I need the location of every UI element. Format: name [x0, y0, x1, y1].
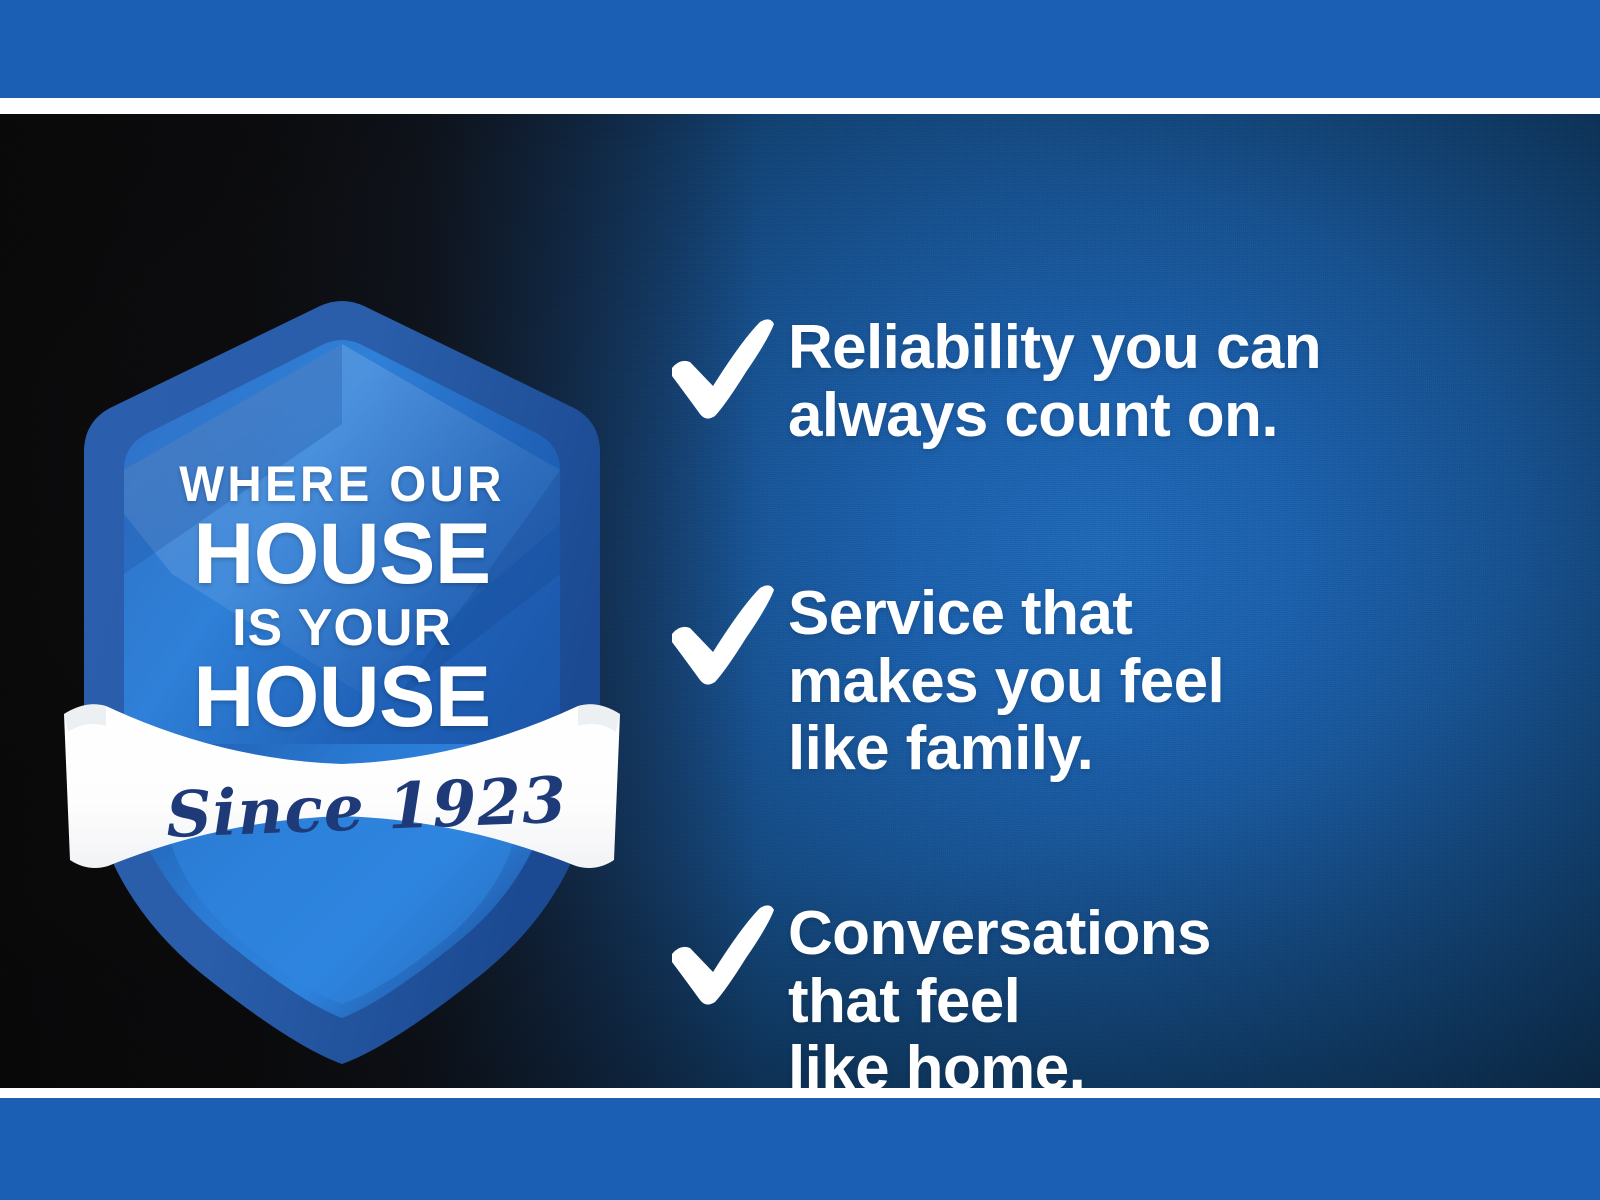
benefit-text-3: Conversations that feel like home. [788, 896, 1211, 1088]
ribbon-banner [62, 274, 622, 1064]
benefit-text-2: Service that makes you feel like family. [788, 576, 1224, 783]
benefit-item-3: Conversations that feel like home. [660, 896, 1211, 1088]
bottom-brand-band [0, 1098, 1600, 1200]
checkmark-icon [660, 896, 788, 1008]
shield-badge: WHERE OUR HOUSE IS YOUR HOUSE Since 1923 [62, 274, 622, 1064]
ribbon-text: Since 1923 [165, 764, 528, 852]
promo-graphic: WHERE OUR HOUSE IS YOUR HOUSE Since 1923 [0, 0, 1600, 1200]
benefit-text-1: Reliability you can always count on. [788, 310, 1321, 449]
benefit-item-2: Service that makes you feel like family. [660, 576, 1224, 783]
top-brand-band [0, 0, 1600, 98]
checkmark-icon [660, 576, 788, 688]
checkmark-icon [660, 310, 788, 422]
benefit-item-1: Reliability you can always count on. [660, 310, 1321, 449]
main-stage: WHERE OUR HOUSE IS YOUR HOUSE Since 1923 [0, 114, 1600, 1088]
